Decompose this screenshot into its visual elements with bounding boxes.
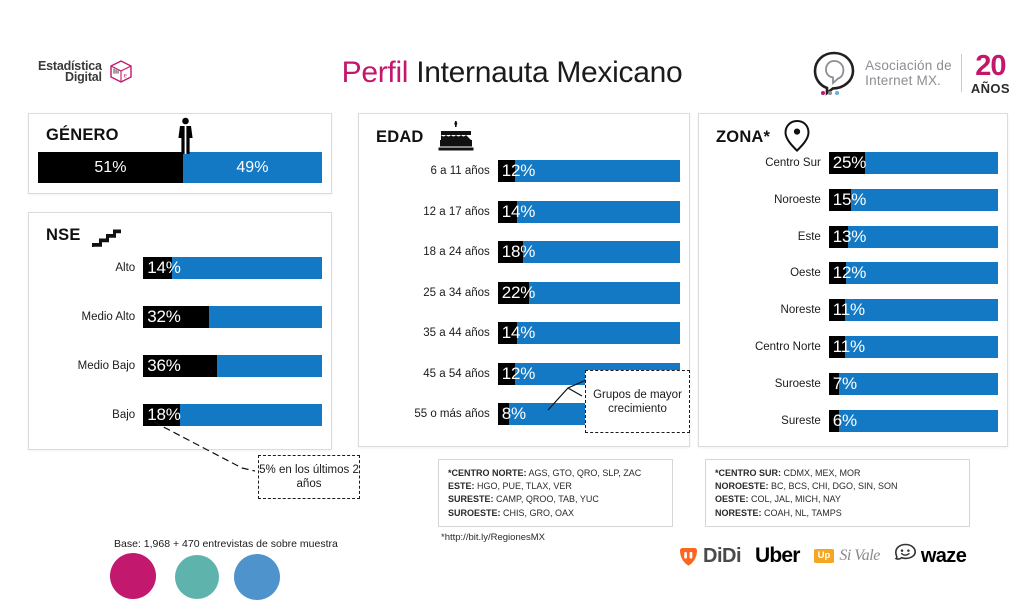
- uber-logo: Uber: [755, 544, 800, 568]
- footnote-center: *CENTRO NORTE: AGS, GTO, QRO, SLP, ZACES…: [438, 459, 673, 527]
- footnote-right-line: OESTE: COL, JAL, MICH, NAY: [715, 493, 960, 506]
- footnote-center-line-value: CAMP, QROO, TAB, YUC: [494, 494, 599, 504]
- footnote-right-line: NOROESTE: BC, BCS, CHI, DGO, SIN, SON: [715, 480, 960, 493]
- zona-bar: 7%: [829, 373, 998, 395]
- footnote-right-line-value: COAH, NL, TAMPS: [762, 508, 842, 518]
- footnote-center-line-key: *CENTRO NORTE:: [448, 468, 527, 478]
- edad-label: 45 a 54 años: [368, 368, 498, 380]
- footnote-right-line-key: OESTE:: [715, 494, 749, 504]
- zona-value: 25%: [833, 153, 866, 173]
- edad-value: 12%: [502, 364, 535, 384]
- footnote-right-line-key: NOROESTE:: [715, 481, 769, 491]
- table-row: Medio Alto32%: [38, 306, 322, 328]
- footnote-center-line-key: SURESTE:: [448, 494, 494, 504]
- nse-label: Bajo: [38, 409, 143, 421]
- zona-value: 13%: [833, 227, 866, 247]
- footnote-center-line: *CENTRO NORTE: AGS, GTO, QRO, SLP, ZAC: [448, 467, 663, 480]
- anniversary-number: 20: [971, 52, 1010, 81]
- zona-bar: 15%: [829, 189, 998, 211]
- table-row: Noroeste15%: [708, 189, 998, 211]
- nse-value: 14%: [147, 258, 180, 278]
- panel-nse-title: NSE: [46, 226, 81, 245]
- edad-bar: 22%: [498, 282, 680, 304]
- didi-logo: DiDi: [678, 545, 741, 568]
- table-row: Bajo18%: [38, 404, 322, 426]
- nse-value: 36%: [147, 356, 180, 376]
- table-row: Sureste6%: [708, 410, 998, 432]
- edad-value: 22%: [502, 283, 535, 303]
- zona-value: 7%: [833, 374, 857, 394]
- asociacion-internet-wordmark: Asociación de Internet MX.: [865, 58, 952, 88]
- genero-bar: 51% 49%: [38, 152, 322, 183]
- edad-label: 6 a 11 años: [368, 165, 498, 177]
- genero-value-male: 51%: [94, 159, 126, 177]
- table-row: Noreste11%: [708, 299, 998, 321]
- waze-logo: waze: [894, 543, 966, 569]
- table-row: Este13%: [708, 226, 998, 248]
- zona-value: 11%: [833, 300, 865, 320]
- zona-bar: 6%: [829, 410, 998, 432]
- footnote-right-line-value: CDMX, MEX, MOR: [781, 468, 861, 478]
- base-text: Base: 1,968 + 470 entrevistas de sobre m…: [114, 538, 338, 550]
- title-rest: Internauta Mexicano: [408, 56, 682, 89]
- footnote-center-lines: *CENTRO NORTE: AGS, GTO, QRO, SLP, ZACES…: [448, 467, 663, 520]
- table-row: 35 a 44 años14%: [368, 322, 680, 344]
- nse-bar: 18%: [143, 404, 322, 426]
- zona-bar: 13%: [829, 226, 998, 248]
- footnote-right-line: *CENTRO SUR: CDMX, MEX, MOR: [715, 467, 960, 480]
- footnote-center-url: *http://bit.ly/RegionesMX: [441, 532, 545, 543]
- logo-dots: [821, 91, 839, 95]
- panel-edad-title: EDAD: [376, 128, 424, 147]
- footnote-center-line: ESTE: HGO, PUE, TLAX, VER: [448, 480, 663, 493]
- deco-circle-blue: [234, 554, 280, 600]
- edad-value: 18%: [502, 242, 535, 262]
- edad-bar: 14%: [498, 322, 680, 344]
- deco-circle-magenta: [110, 553, 156, 599]
- zona-bar: 12%: [829, 262, 998, 284]
- nse-bar: 36%: [143, 355, 322, 377]
- nse-bar: 14%: [143, 257, 322, 279]
- footnote-center-line-value: AGS, GTO, QRO, SLP, ZAC: [527, 468, 642, 478]
- edad-value: 8%: [502, 404, 526, 424]
- edad-label: 35 a 44 años: [368, 327, 498, 339]
- footnote-center-line-value: CHIS, GRO, OAX: [501, 508, 575, 518]
- zona-label: Centro Norte: [708, 341, 829, 353]
- zona-bar: 11%: [829, 336, 998, 358]
- genero-value-female: 49%: [236, 159, 268, 177]
- up-badge: Up: [814, 549, 835, 563]
- edad-bar: 12%: [498, 160, 680, 182]
- zona-label: Sureste: [708, 415, 829, 427]
- footnote-right-line-key: NORESTE:: [715, 508, 762, 518]
- deco-circle-teal: [175, 555, 219, 599]
- person-icon: [177, 117, 194, 155]
- infographic-canvas: Estadística Digital e Perfil Internauta …: [0, 0, 1024, 576]
- edad-value: 12%: [502, 161, 535, 181]
- panel-genero: GÉNERO 51% 49%: [28, 113, 332, 194]
- cake-icon: [436, 121, 476, 158]
- title-accent: Perfil: [342, 56, 409, 89]
- anniversary-badge: 20 AÑOS: [971, 52, 1010, 95]
- logo-divider: [961, 54, 962, 92]
- zona-value: 12%: [833, 263, 866, 283]
- zona-value: 6%: [833, 411, 857, 431]
- waze-wordmark: waze: [921, 545, 966, 568]
- stairs-icon: [91, 227, 125, 254]
- edad-bar: 14%: [498, 201, 680, 223]
- edad-bar: 18%: [498, 241, 680, 263]
- footnote-right: *CENTRO SUR: CDMX, MEX, MORNOROESTE: BC,…: [705, 459, 970, 527]
- zona-label: Oeste: [708, 267, 829, 279]
- zona-label: Centro Sur: [708, 157, 829, 169]
- nse-label: Alto: [38, 262, 143, 274]
- callout-nse-growth: 5% en los últimos 2 años: [258, 455, 360, 499]
- aimx-line-1: Asociación de: [865, 58, 952, 73]
- table-row: 18 a 24 años18%: [368, 241, 680, 263]
- edad-label: 18 a 24 años: [368, 246, 498, 258]
- table-row: Medio Bajo36%: [38, 355, 322, 377]
- didi-wordmark: DiDi: [703, 545, 741, 568]
- table-row: Centro Sur25%: [708, 152, 998, 174]
- table-row: 6 a 11 años12%: [368, 160, 680, 182]
- waze-icon: [894, 543, 917, 569]
- zona-label: Noreste: [708, 304, 829, 316]
- aimx-line-2: Internet MX.: [865, 73, 941, 88]
- table-row: 25 a 34 años22%: [368, 282, 680, 304]
- sponsor-logos: DiDi Uber Up Si Vale waze: [678, 543, 966, 569]
- genero-segment-female: 49%: [183, 152, 322, 183]
- table-row: Oeste12%: [708, 262, 998, 284]
- anniversary-word: AÑOS: [971, 82, 1010, 95]
- edad-label: 12 a 17 años: [368, 206, 498, 218]
- table-row: Centro Norte11%: [708, 336, 998, 358]
- zona-bar: 25%: [829, 152, 998, 174]
- zona-label: Noroeste: [708, 194, 829, 206]
- nse-value: 32%: [147, 307, 180, 327]
- edad-label: 25 a 34 años: [368, 287, 498, 299]
- edad-label: 55 o más años: [368, 408, 498, 420]
- zona-label: Este: [708, 231, 829, 243]
- edad-value: 14%: [502, 202, 535, 222]
- edad-value: 14%: [502, 323, 535, 343]
- panel-nse: NSE Alto14%Medio Alto32%Medio Bajo36%Baj…: [28, 212, 332, 450]
- si-vale-wordmark: Si Vale: [839, 547, 880, 565]
- footnote-center-line-value: HGO, PUE, TLAX, VER: [475, 481, 572, 491]
- zona-value: 11%: [833, 337, 865, 357]
- asociacion-internet-mark-icon: [812, 50, 856, 96]
- nse-value: 18%: [147, 405, 180, 425]
- asociacion-internet-logo: Asociación de Internet MX. 20 AÑOS: [812, 50, 1010, 96]
- nse-label: Medio Bajo: [38, 360, 143, 372]
- callout-nse-growth-text: 5% en los últimos 2 años: [259, 463, 359, 491]
- table-row: 12 a 17 años14%: [368, 201, 680, 223]
- nse-bar: 32%: [143, 306, 322, 328]
- table-row: Alto14%: [38, 257, 322, 279]
- table-row: Suroeste7%: [708, 373, 998, 395]
- footnote-right-line-key: *CENTRO SUR:: [715, 468, 781, 478]
- didi-icon: [678, 546, 699, 567]
- footnote-center-line: SURESTE: CAMP, QROO, TAB, YUC: [448, 493, 663, 506]
- genero-segment-male: 51%: [38, 152, 183, 183]
- footnote-url-text: *http://bit.ly/RegionesMX: [441, 532, 545, 543]
- callout-edad-growth: Grupos de mayor crecimiento: [585, 370, 690, 433]
- zona-value: 15%: [833, 190, 866, 210]
- nse-label: Medio Alto: [38, 311, 143, 323]
- footnote-right-line-value: BC, BCS, CHI, DGO, SIN, SON: [769, 481, 898, 491]
- zona-bar: 11%: [829, 299, 998, 321]
- footnote-right-line: NORESTE: COAH, NL, TAMPS: [715, 507, 960, 520]
- footnote-center-line-key: ESTE:: [448, 481, 475, 491]
- panel-zona: ZONA* Centro Sur25%Noroeste15%Este13%Oes…: [698, 113, 1008, 447]
- footnote-right-lines: *CENTRO SUR: CDMX, MEX, MORNOROESTE: BC,…: [715, 467, 960, 520]
- panel-zona-title: ZONA*: [716, 128, 770, 147]
- si-vale-logo: Up Si Vale: [814, 547, 880, 565]
- footnote-center-line: SUROESTE: CHIS, GRO, OAX: [448, 507, 663, 520]
- footnote-right-line-value: COL, JAL, MICH, NAY: [749, 494, 841, 504]
- panel-genero-title: GÉNERO: [46, 126, 119, 145]
- footnote-center-line-key: SUROESTE:: [448, 508, 501, 518]
- zona-label: Suroeste: [708, 378, 829, 390]
- callout-edad-growth-text: Grupos de mayor crecimiento: [586, 388, 689, 416]
